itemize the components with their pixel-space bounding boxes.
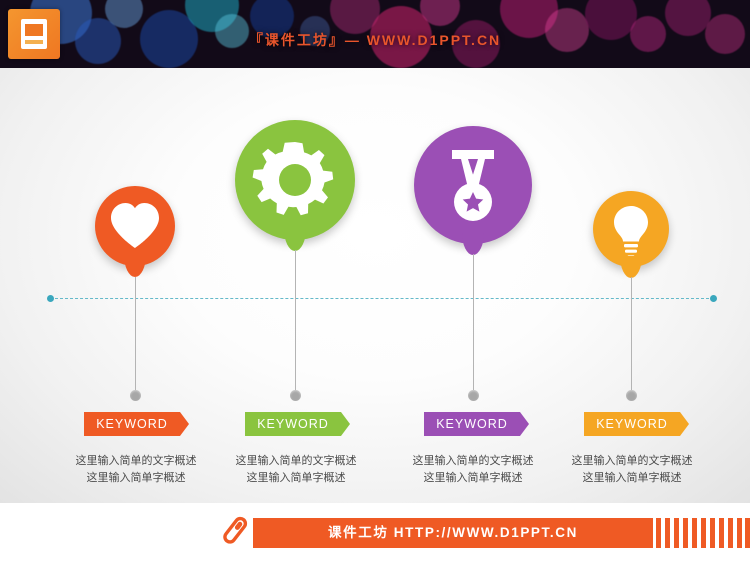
keyword-text-2: KEYWORD xyxy=(257,417,329,431)
node-bullet-2 xyxy=(290,390,301,401)
keyword-text-4: KEYWORD xyxy=(596,417,668,431)
keyword-text-3: KEYWORD xyxy=(436,417,508,431)
paperclip-icon xyxy=(211,511,255,555)
node-circle-3[interactable] xyxy=(414,126,532,244)
node-desc-1-line2: 这里输入简单字概述 xyxy=(50,470,222,487)
node-desc-1-line1: 这里输入简单的文字概述 xyxy=(50,453,222,470)
heart-icon xyxy=(95,186,175,266)
node-desc-4-line2: 这里输入简单字概述 xyxy=(546,470,718,487)
keyword-label-1[interactable]: KEYWORD xyxy=(84,412,180,436)
slide-canvas: 『课件工坊』— WWW.D1PPT.CN KEYWORD 这里输入简单的文字概述… xyxy=(0,0,750,563)
node-stem-3 xyxy=(473,254,474,395)
pin-tip-4 xyxy=(620,256,642,278)
node-desc-3-line1: 这里输入简单的文字概述 xyxy=(387,453,559,470)
connector-endpoint-left xyxy=(47,295,54,302)
connector-endpoint-right xyxy=(710,295,717,302)
keyword-label-2[interactable]: KEYWORD xyxy=(245,412,341,436)
keyword-arrow-3 xyxy=(520,412,529,436)
node-bullet-4 xyxy=(626,390,637,401)
node-stem-4 xyxy=(631,277,632,395)
node-bullet-3 xyxy=(468,390,479,401)
keyword-text-1: KEYWORD xyxy=(96,417,168,431)
node-desc-1: 这里输入简单的文字概述 这里输入简单字概述 xyxy=(50,453,222,487)
node-bullet-1 xyxy=(130,390,141,401)
node-desc-4: 这里输入简单的文字概述 这里输入简单字概述 xyxy=(546,453,718,487)
slide-body: KEYWORD 这里输入简单的文字概述 这里输入简单字概述 KEYWORD 这里… xyxy=(0,68,750,503)
keyword-label-3[interactable]: KEYWORD xyxy=(424,412,520,436)
pin-tip-1 xyxy=(124,255,146,277)
node-desc-2-line2: 这里输入简单字概述 xyxy=(210,470,382,487)
keyword-arrow-2 xyxy=(341,412,350,436)
node-desc-4-line1: 这里输入简单的文字概述 xyxy=(546,453,718,470)
node-stem-2 xyxy=(295,250,296,395)
node-circle-4[interactable] xyxy=(593,191,669,267)
bottom-text: 课件工坊 HTTP://WWW.D1PPT.CN xyxy=(253,518,653,548)
node-circle-1[interactable] xyxy=(95,186,175,266)
medal-icon xyxy=(414,126,532,244)
node-desc-3-line2: 这里输入简单字概述 xyxy=(387,470,559,487)
bottom-strip: 课件工坊 HTTP://WWW.D1PPT.CN xyxy=(253,518,653,548)
bottom-bar-stripes xyxy=(656,518,750,548)
banner-title: 『课件工坊』— WWW.D1PPT.CN xyxy=(0,30,750,50)
node-desc-2: 这里输入简单的文字概述 这里输入简单字概述 xyxy=(210,453,382,487)
keyword-label-4[interactable]: KEYWORD xyxy=(584,412,680,436)
top-banner: 『课件工坊』— WWW.D1PPT.CN xyxy=(0,0,750,68)
keyword-arrow-1 xyxy=(180,412,189,436)
gear-icon xyxy=(235,120,355,240)
pin-tip-3 xyxy=(462,233,484,255)
bottom-banner: 课件工坊 HTTP://WWW.D1PPT.CN xyxy=(0,503,750,563)
keyword-arrow-4 xyxy=(680,412,689,436)
node-stem-1 xyxy=(135,277,136,395)
node-circle-2[interactable] xyxy=(235,120,355,240)
pin-tip-2 xyxy=(284,229,306,251)
node-desc-3: 这里输入简单的文字概述 这里输入简单字概述 xyxy=(387,453,559,487)
node-desc-2-line1: 这里输入简单的文字概述 xyxy=(210,453,382,470)
connector-line xyxy=(50,298,714,299)
